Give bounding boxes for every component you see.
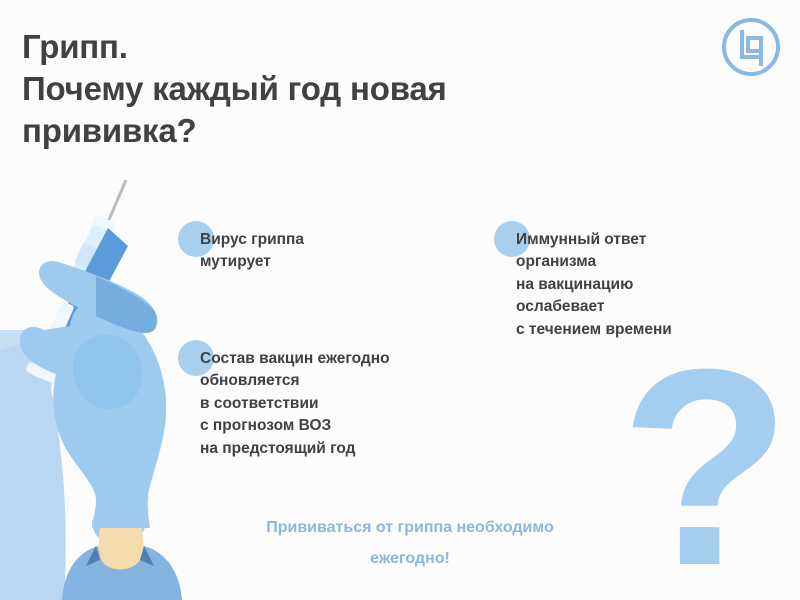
bullet-virus-mutates: Вирус гриппа мутирует — [200, 229, 450, 274]
footer-call-to-action: Прививаться от гриппа необходимо ежегодн… — [150, 512, 670, 574]
bullet-vaccine-text: Состав вакцин ежегодно обновляется в соо… — [200, 348, 470, 460]
glove-palm-highlight — [73, 334, 142, 409]
collar-shadow-left — [86, 546, 100, 566]
syringe-fluid — [74, 242, 103, 271]
bullet-immune-text: Иммунный ответ организма на вакцинацию о… — [516, 229, 776, 341]
bullet-vaccine-composition: Состав вакцин ежегодно обновляется в соо… — [200, 348, 470, 460]
syringe-plunger-rod — [46, 228, 128, 362]
syringe-hub — [90, 214, 117, 238]
syringe-barrel — [61, 224, 116, 306]
syringe-plunger-shaft — [30, 301, 74, 379]
glove-cuff — [92, 520, 146, 544]
poster-canvas: Грипп. Почему каждый год новая прививка?… — [0, 0, 800, 600]
glove-finger-shadow — [96, 276, 157, 333]
glove-index-finger — [39, 261, 157, 333]
bullet-virus-text: Вирус гриппа мутирует — [200, 229, 450, 274]
logo-outer-circle — [724, 20, 778, 74]
logo-letter-l — [742, 32, 761, 57]
clinic-monogram-logo[interactable] — [720, 16, 782, 78]
bullet-immune-response: Иммунный ответ организма на вакцинацию о… — [516, 229, 776, 341]
page-title: Грипп. Почему каждый год новая прививка? — [22, 26, 542, 153]
neck-skin — [96, 528, 146, 598]
glove-palm — [20, 300, 166, 528]
syringe-needle — [108, 180, 126, 222]
syringe-plunger-flange — [25, 361, 62, 386]
background-blob-shape-2 — [0, 338, 66, 600]
background-blob-shape — [0, 330, 62, 538]
